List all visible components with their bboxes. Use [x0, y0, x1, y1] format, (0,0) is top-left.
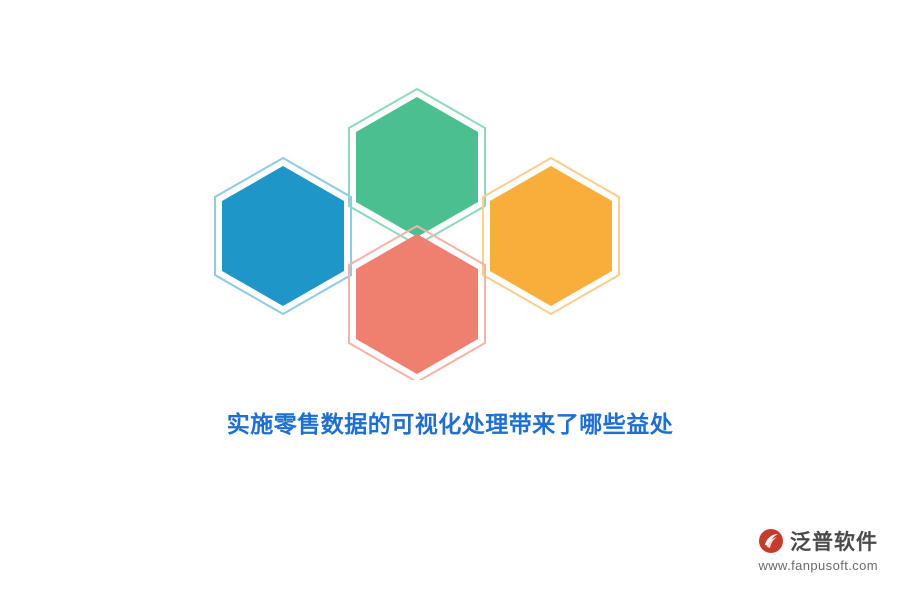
hexagon-cluster — [195, 70, 635, 380]
watermark-brand-row: 泛普软件 — [718, 526, 878, 556]
green-hexagon — [349, 89, 485, 245]
page-canvas: 实施零售数据的可视化处理带来了哪些益处 泛普软件 www.fanpusoft.c… — [0, 0, 900, 600]
watermark-brand-text: 泛普软件 — [790, 526, 878, 556]
watermark-url: www.fanpusoft.com — [718, 558, 878, 573]
red-hexagon — [349, 226, 485, 380]
blue-hexagon — [215, 158, 351, 314]
page-title: 实施零售数据的可视化处理带来了哪些益处 — [0, 405, 900, 439]
fanpu-logo-icon — [758, 528, 784, 554]
orange-hexagon — [483, 158, 619, 314]
watermark: 泛普软件 www.fanpusoft.com — [718, 526, 878, 582]
